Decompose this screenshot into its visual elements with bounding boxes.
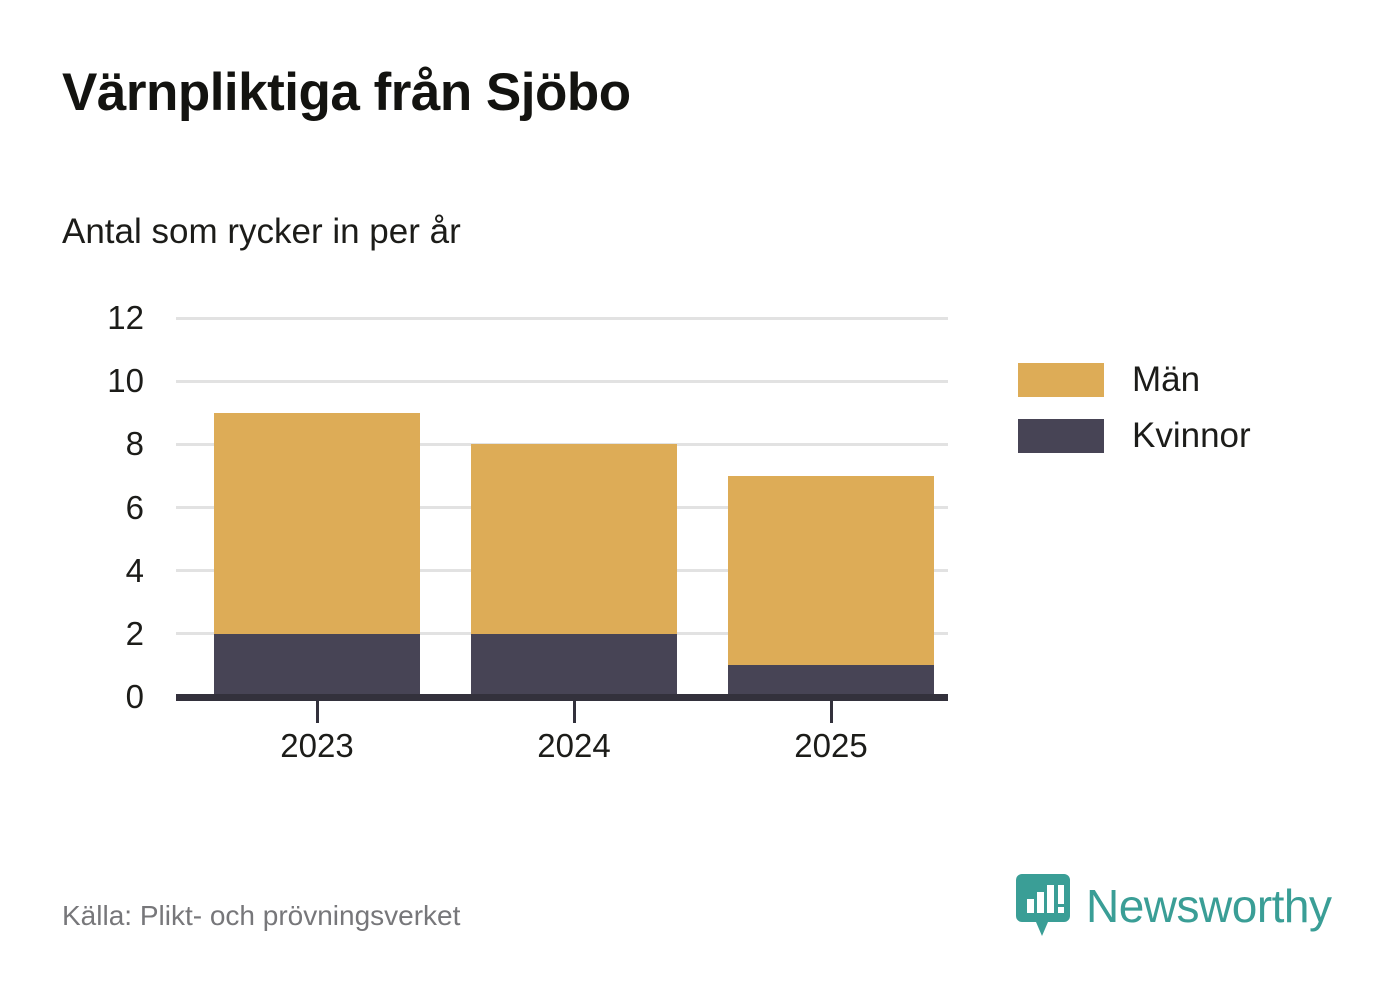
y-axis-tick-label: 8	[126, 425, 144, 463]
page-title: Värnpliktiga från Sjöbo	[62, 62, 631, 123]
y-axis-tick-label: 4	[126, 552, 144, 590]
bar-stack-2023[interactable]	[214, 318, 420, 697]
x-axis-label-2025: 2025	[794, 727, 867, 765]
bar-stack-2024[interactable]	[471, 318, 677, 697]
legend-label-man: Män	[1132, 360, 1200, 400]
x-axis-line	[176, 694, 948, 701]
legend-item-man[interactable]: Män	[1018, 352, 1251, 408]
brand-name: Newsworthy	[1086, 879, 1332, 933]
legend-swatch-kvinnor	[1018, 419, 1104, 453]
x-axis-tick	[830, 701, 833, 723]
chart-legend: Män Kvinnor	[1018, 352, 1251, 464]
bar-segment-kvinnor[interactable]	[214, 634, 420, 697]
source-note: Källa: Plikt- och prövningsverket	[62, 900, 460, 932]
plot-area: 024681012	[176, 318, 948, 697]
y-axis-tick-label: 10	[107, 362, 144, 400]
chart-subtitle: Antal som rycker in per år	[62, 212, 461, 252]
bar-stack-2025[interactable]	[728, 318, 934, 697]
x-axis-tick	[316, 701, 319, 723]
brand-logo: Newsworthy	[1014, 872, 1332, 940]
bar-segment-kvinnor[interactable]	[728, 665, 934, 697]
legend-label-kvinnor: Kvinnor	[1132, 416, 1251, 456]
newsworthy-speech-bubble-bars-icon	[1014, 872, 1072, 940]
bar-segment-man[interactable]	[471, 444, 677, 634]
legend-item-kvinnor[interactable]: Kvinnor	[1018, 408, 1251, 464]
y-axis-tick-label: 0	[126, 678, 144, 716]
x-axis-label-2023: 2023	[280, 727, 353, 765]
bar-segment-man[interactable]	[728, 476, 934, 666]
x-axis-label-2024: 2024	[537, 727, 610, 765]
y-axis-tick-label: 2	[126, 615, 144, 653]
x-axis-tick	[573, 701, 576, 723]
y-axis-tick-label: 6	[126, 489, 144, 527]
bar-segment-man[interactable]	[214, 413, 420, 634]
bar-segment-kvinnor[interactable]	[471, 634, 677, 697]
y-axis-tick-label: 12	[107, 299, 144, 337]
legend-swatch-man	[1018, 363, 1104, 397]
